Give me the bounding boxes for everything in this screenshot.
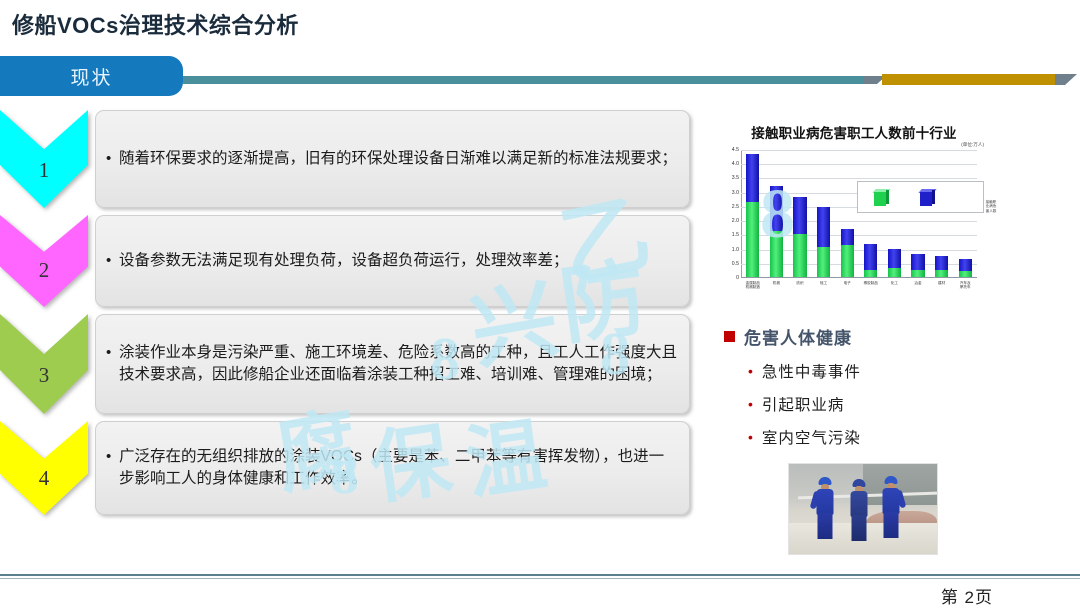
chart-bar-segment-chemical xyxy=(911,254,924,270)
header-rule-gold-endcap xyxy=(1055,74,1077,85)
photo-worker-right xyxy=(879,476,903,549)
chart-bar-segment-chemical xyxy=(746,154,759,203)
chart-bar-segment-chemical xyxy=(864,244,877,270)
chart-bar-segment-dust xyxy=(888,268,901,277)
chart-x-tick-label: 轻工 xyxy=(812,281,836,285)
chart-bar-group xyxy=(888,149,901,277)
health-hazard-item: •引起职业病 xyxy=(748,393,984,415)
chart-bar-segment-dust xyxy=(770,231,783,277)
chart-x-tick-label: 建材 xyxy=(930,281,954,285)
health-hazard-item: •室内空气污染 xyxy=(748,426,984,448)
chart-bar-segment-dust xyxy=(935,270,948,277)
health-hazard-item-label: 引起职业病 xyxy=(762,393,845,415)
chart-bar-group xyxy=(793,149,806,277)
chart-y-axis xyxy=(741,150,742,278)
chart-bar-segment-dust xyxy=(911,270,924,277)
chart-legend-swatch xyxy=(874,189,889,206)
chart-y-tick-label: 3.0 xyxy=(725,190,739,196)
chart-bar-group xyxy=(746,149,759,277)
status-item-number: 3 xyxy=(0,363,88,388)
chart-bar-group xyxy=(817,149,830,277)
worker-photo xyxy=(788,463,938,555)
health-hazard-item-label: 急性中毒事件 xyxy=(762,360,861,382)
chart-bar-segment-chemical xyxy=(793,197,806,234)
bullet-icon: • xyxy=(106,148,119,169)
status-item-number: 4 xyxy=(0,466,88,491)
chart-bar-segment-chemical xyxy=(935,256,948,271)
chart-y-axis-label: 接触职业病危害人数 xyxy=(984,200,998,213)
chart-x-tick-label: 化工 xyxy=(883,281,907,285)
bullet-icon: • xyxy=(106,342,119,363)
chart-bar-segment-dust xyxy=(793,234,806,277)
chart-y-tick-label: 0.5 xyxy=(725,261,739,267)
chart-x-tick-label: 电子 xyxy=(835,281,859,285)
chart-bar-segment-dust xyxy=(864,270,877,277)
chevron-arrow-down-icon: 2 xyxy=(0,215,88,307)
status-item-number: 2 xyxy=(0,258,88,283)
bullet-icon: • xyxy=(106,446,119,467)
footer-divider-top xyxy=(0,574,1080,576)
health-heading-label: 危害人体健康 xyxy=(744,324,852,349)
chart-x-tick-label: 冶金 xyxy=(906,281,930,285)
chevron-arrow-down-icon: 3 xyxy=(0,314,88,414)
chart-y-tick-label: 4.5 xyxy=(725,147,739,153)
photo-worker-left xyxy=(813,477,837,549)
status-item-textbox: •广泛存在的无组织排放的涂装VOCs（主要是苯、二甲苯等有害挥发物），也进一步影… xyxy=(95,421,690,515)
status-item-text: 设备参数无法满足现有处理负荷，设备超负荷运行，处理效率差； xyxy=(119,250,569,272)
photo-worker-middle xyxy=(847,479,871,549)
status-item-text: 涂装作业本身是污染严重、施工环境差、危险系数高的工种，且工人工作强度大且技术要求… xyxy=(119,342,678,386)
chart-bar-segment-chemical xyxy=(841,229,854,245)
chart-plot-area: 00.51.01.52.02.53.03.54.04.5金属制品 机械制造机械纺… xyxy=(725,150,977,278)
chart-y-tick-label: 0 xyxy=(725,275,739,281)
chart-y-tick-label: 1.0 xyxy=(725,247,739,253)
chart-y-tick-label: 1.5 xyxy=(725,232,739,238)
status-item-row: 1•随着环保要求的逐渐提高，旧有的环保处理设备日渐难以满足新的标准法规要求； xyxy=(0,110,690,208)
status-item-text: 随着环保要求的逐渐提高，旧有的环保处理设备日渐难以满足新的标准法规要求； xyxy=(119,148,677,170)
chart-bar-segment-chemical xyxy=(817,207,830,247)
bullet-icon: • xyxy=(748,430,753,444)
chart-legend-swatch xyxy=(920,189,935,206)
status-item-number: 1 xyxy=(0,158,88,183)
status-item-row: 2•设备参数无法满足现有处理负荷，设备超负荷运行，处理效率差； xyxy=(0,215,690,307)
chart-x-tick-label: 橡胶制品 xyxy=(859,281,883,285)
square-marker-icon xyxy=(724,331,735,342)
chart-bar-group xyxy=(841,149,854,277)
health-heading: 危害人体健康 xyxy=(724,324,984,349)
chart-bar-group xyxy=(864,149,877,277)
chart-y-tick-label: 2.5 xyxy=(725,204,739,210)
status-item-textbox: •涂装作业本身是污染严重、施工环境差、危险系数高的工种，且工人工作强度大且技术要… xyxy=(95,314,690,414)
chart-legend xyxy=(857,181,984,213)
health-hazard-item-label: 室内空气污染 xyxy=(762,426,861,448)
page-title: 修船VOCs治理技术综合分析 xyxy=(12,8,299,40)
chart-x-axis xyxy=(741,277,977,278)
health-hazard-block: 危害人体健康 •急性中毒事件•引起职业病•室内空气污染 xyxy=(724,324,984,448)
bullet-icon: • xyxy=(748,364,753,378)
header-rule-teal xyxy=(183,76,882,84)
health-hazard-item: •急性中毒事件 xyxy=(748,360,984,382)
chevron-arrow-down-icon: 1 xyxy=(0,110,88,208)
chart-y-tick-label: 3.5 xyxy=(725,175,739,181)
status-item-textbox: •设备参数无法满足现有处理负荷，设备超负荷运行，处理效率差； xyxy=(95,215,690,307)
chart-bar-segment-dust xyxy=(746,202,759,277)
chart-bar-group xyxy=(935,149,948,277)
status-item-text: 广泛存在的无组织排放的涂装VOCs（主要是苯、二甲苯等有害挥发物），也进一步影响… xyxy=(119,446,678,490)
chart-bar-group xyxy=(911,149,924,277)
chart-x-tick-label: 机械 xyxy=(765,281,789,285)
status-item-row: 4•广泛存在的无组织排放的涂装VOCs（主要是苯、二甲苯等有害挥发物），也进一步… xyxy=(0,421,690,515)
chart-bar-segment-chemical xyxy=(770,186,783,231)
bullet-icon: • xyxy=(748,397,753,411)
chart-bar-group xyxy=(959,149,972,277)
right-illustration-panel: 接触职业病危害职工人数前十行业 (单位:万人) 00.51.01.52.02.5… xyxy=(700,106,1000,566)
occupational-disease-chart: 接触职业病危害职工人数前十行业 (单位:万人) 00.51.01.52.02.5… xyxy=(711,112,994,317)
section-tab-label: 现状 xyxy=(70,63,112,90)
chart-bar-segment-chemical xyxy=(888,249,901,268)
status-items-list: 1•随着环保要求的逐渐提高，旧有的环保处理设备日渐难以满足新的标准法规要求；2•… xyxy=(0,110,690,545)
status-item-row: 3•涂装作业本身是污染严重、施工环境差、危险系数高的工种，且工人工作强度大且技术… xyxy=(0,314,690,414)
chevron-arrow-down-icon: 4 xyxy=(0,421,88,515)
footer-page-number: 第 2页 xyxy=(941,583,993,608)
chart-bar-segment-chemical xyxy=(959,259,972,270)
chart-unit-note: (单位:万人) xyxy=(961,142,984,148)
chart-title: 接触职业病危害职工人数前十行业 xyxy=(719,122,989,142)
status-item-textbox: •随着环保要求的逐渐提高，旧有的环保处理设备日渐难以满足新的标准法规要求； xyxy=(95,110,690,208)
chart-bar-segment-dust xyxy=(959,271,972,277)
chart-bar-segment-dust xyxy=(817,247,830,277)
chart-bar-segment-dust xyxy=(841,245,854,277)
footer-divider-bottom xyxy=(0,578,1080,579)
section-tab-current-status[interactable]: 现状 xyxy=(0,56,183,96)
chart-x-tick-label: 金属制品 机械制造 xyxy=(741,281,765,289)
header-rule-gold xyxy=(882,74,1072,85)
chart-y-tick-label: 4.0 xyxy=(725,161,739,167)
chart-bar-group xyxy=(770,149,783,277)
chart-x-tick-label: 纺织 xyxy=(788,281,812,285)
chart-y-tick-label: 2.0 xyxy=(725,218,739,224)
chart-x-tick-label: 汽车及 摩托车 xyxy=(953,281,977,289)
bullet-icon: • xyxy=(106,250,119,271)
